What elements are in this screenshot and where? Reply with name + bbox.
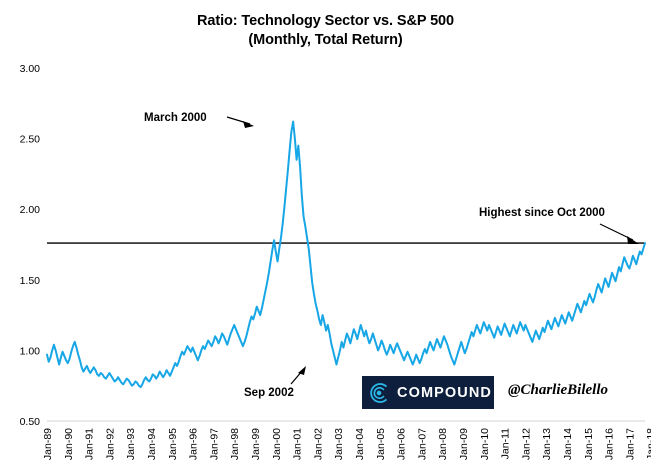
annotation-sep-2002-arrow — [291, 366, 306, 384]
annotation-highest-since-arrow — [600, 224, 639, 244]
x-axis-tick-label: Jan-98 — [229, 428, 241, 460]
x-axis-tick-label: Jan-07 — [416, 428, 428, 460]
x-axis-tick-label: Jan-16 — [604, 428, 616, 460]
author-handle: @CharlieBilello — [508, 382, 608, 399]
x-axis-tick-label: Jan-09 — [458, 428, 470, 460]
x-axis-tick-label: Jan-06 — [396, 428, 408, 460]
chart-plot-area: 0.501.001.502.002.503.00 Jan-89Jan-90Jan… — [0, 0, 651, 475]
y-axis-tick-label: 2.50 — [20, 134, 41, 146]
y-axis-tick-label: 1.00 — [20, 345, 41, 357]
annotation-march-2000-arrow — [227, 117, 254, 128]
x-axis-tick-label: Jan-05 — [375, 428, 387, 460]
x-axis-tick-label: Jan-90 — [63, 428, 75, 460]
compound-logo-wordmark: COMPOUND — [397, 385, 492, 401]
y-axis-tick-label: 3.00 — [20, 63, 41, 75]
x-axis-tick-label: Jan-94 — [146, 428, 158, 460]
x-axis-tick-label: Jan-02 — [312, 428, 324, 460]
x-axis-tick-label: Jan-14 — [562, 428, 574, 460]
y-axis-tick-label: 0.50 — [20, 416, 41, 428]
x-axis-tick-label: Jan-12 — [520, 428, 532, 460]
x-axis-tick-label: Jan-03 — [333, 428, 345, 460]
x-axis-tick-label: Jan-18 — [645, 428, 651, 460]
x-axis-tick-label: Jan-89 — [42, 428, 54, 460]
x-axis-tick-label: Jan-95 — [167, 428, 179, 460]
x-axis-tick-label: Jan-97 — [208, 428, 220, 460]
x-axis-tick-label: Jan-08 — [437, 428, 449, 460]
x-axis-tick-label: Jan-11 — [500, 428, 512, 459]
y-axis-tick-label: 2.00 — [20, 204, 41, 216]
chart-container: Ratio: Technology Sector vs. S&P 500 (Mo… — [0, 0, 651, 475]
annotation-sep-2002-label: Sep 2002 — [244, 387, 294, 399]
x-axis-tick-label: Jan-91 — [84, 428, 96, 460]
compound-logo-icon — [367, 381, 391, 405]
x-axis-tick-label: Jan-17 — [624, 428, 636, 460]
annotation-march-2000-label: March 2000 — [144, 112, 207, 124]
y-axis-tick-labels: 0.501.001.502.002.503.00 — [20, 63, 41, 428]
x-axis-tick-label: Jan-99 — [250, 428, 262, 460]
x-axis-tick-label: Jan-15 — [583, 428, 595, 460]
x-axis-tick-label: Jan-10 — [479, 428, 491, 460]
x-axis-tick-label: Jan-93 — [125, 428, 137, 460]
annotation-highest-since-label: Highest since Oct 2000 — [479, 207, 605, 219]
x-axis-tick-label: Jan-00 — [271, 428, 283, 460]
x-axis-tick-label: Jan-96 — [188, 428, 200, 460]
x-axis-tick-labels: Jan-89Jan-90Jan-91Jan-92Jan-93Jan-94Jan-… — [42, 428, 651, 460]
x-axis-tick-label: Jan-92 — [104, 428, 116, 460]
x-axis-tick-label: Jan-04 — [354, 428, 366, 460]
data-series-line — [47, 122, 645, 387]
compound-logo: COMPOUND — [362, 376, 494, 409]
x-axis-tick-label: Jan-01 — [292, 428, 304, 460]
y-axis-tick-label: 1.50 — [20, 275, 41, 287]
x-axis-tick-label: Jan-13 — [541, 428, 553, 460]
